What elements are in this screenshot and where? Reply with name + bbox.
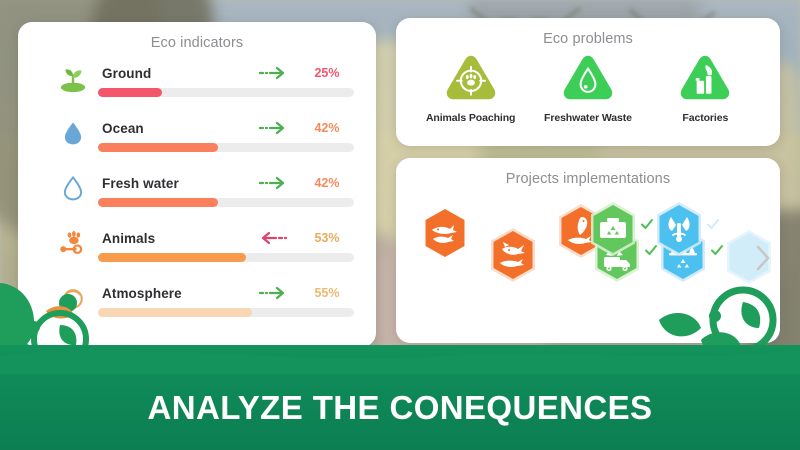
indicator-row-fresh-water[interactable]: Fresh water 42% [36, 169, 358, 224]
indicator-label: Fresh water [102, 176, 179, 191]
project-tile-recycle-bin[interactable] [588, 201, 638, 257]
trend-arrow-right-icon [258, 285, 288, 301]
sprout-icon [58, 63, 88, 93]
projects-tile-grid [396, 187, 780, 327]
indicator-row-ground[interactable]: Ground 25% [36, 59, 358, 114]
projects-implementations-card: Projects implementations [396, 158, 780, 343]
eco-problems-title: Eco problems [396, 18, 780, 47]
screenshot-root: Eco indicators Ground 25% [0, 0, 800, 450]
eco-problem-freshwater-waste[interactable]: Freshwater Waste [533, 53, 643, 124]
next-page-chevron-icon[interactable] [754, 245, 772, 271]
indicator-label: Animals [102, 231, 155, 246]
indicator-percent: 25% [304, 66, 350, 80]
trend-arrow-right-icon [258, 65, 288, 81]
indicator-row-atmosphere[interactable]: Atmosphere 55% [36, 279, 358, 334]
water-drop-icon [560, 53, 616, 103]
indicator-progress-track [98, 253, 354, 262]
indicator-label: Ocean [102, 121, 144, 136]
indicator-percent: 42% [304, 176, 350, 190]
water-drop-icon [58, 118, 88, 148]
indicator-percent: 42% [304, 121, 350, 135]
banner-wave-edge [0, 344, 800, 374]
trend-arrow-right-icon [258, 175, 288, 191]
paw-crosshair-icon [443, 53, 499, 103]
project-tile-fish[interactable] [420, 205, 470, 261]
project-tile-rhino[interactable] [488, 227, 538, 283]
check-icon [710, 243, 724, 257]
eco-problem-label: Freshwater Waste [533, 112, 643, 124]
indicator-progress-fill [98, 143, 218, 152]
bottom-banner: ANALYZE THE CONEQUENCES [0, 345, 800, 450]
indicator-progress-track [98, 308, 354, 317]
eco-problem-animals-poaching[interactable]: Animals Poaching [416, 53, 526, 124]
check-icon [640, 217, 654, 231]
fresh-water-icon [58, 173, 88, 203]
indicator-label: Ground [102, 66, 151, 81]
eco-problem-label: Factories [650, 112, 760, 124]
indicator-row-ocean[interactable]: Ocean 42% [36, 114, 358, 169]
eco-indicators-list: Ground 25% Ocean [18, 51, 376, 334]
eco-indicators-title: Eco indicators [18, 22, 376, 51]
eco-problems-card: Eco problems Animals Poaching [396, 18, 780, 146]
eco-problem-label: Animals Poaching [416, 112, 526, 124]
check-icon [706, 217, 720, 231]
indicator-progress-fill [98, 253, 246, 262]
indicator-progress-fill [98, 308, 252, 317]
indicator-percent: 53% [304, 231, 350, 245]
trend-arrow-left-icon [258, 230, 288, 246]
eco-indicators-card: Eco indicators Ground 25% [18, 22, 376, 347]
projects-title: Projects implementations [396, 158, 780, 187]
banner-headline: ANALYZE THE CONEQUENCES [0, 389, 800, 427]
indicator-row-animals[interactable]: Animals 53% [36, 224, 358, 279]
indicator-progress-track [98, 143, 354, 152]
project-tile-air-filter[interactable] [654, 201, 704, 257]
indicator-progress-track [98, 88, 354, 97]
indicator-progress-fill [98, 198, 218, 207]
trend-arrow-right-icon [258, 120, 288, 136]
eco-problem-factories[interactable]: Factories [650, 53, 760, 124]
paw-trap-icon [58, 228, 88, 258]
indicator-progress-fill [98, 88, 162, 97]
factory-icon [677, 53, 733, 103]
atmosphere-icon [58, 283, 88, 313]
eco-problems-list: Animals Poaching Freshwater Waste [396, 47, 780, 124]
indicator-label: Atmosphere [102, 286, 182, 301]
indicator-percent: 55% [304, 286, 350, 300]
indicator-progress-track [98, 198, 354, 207]
